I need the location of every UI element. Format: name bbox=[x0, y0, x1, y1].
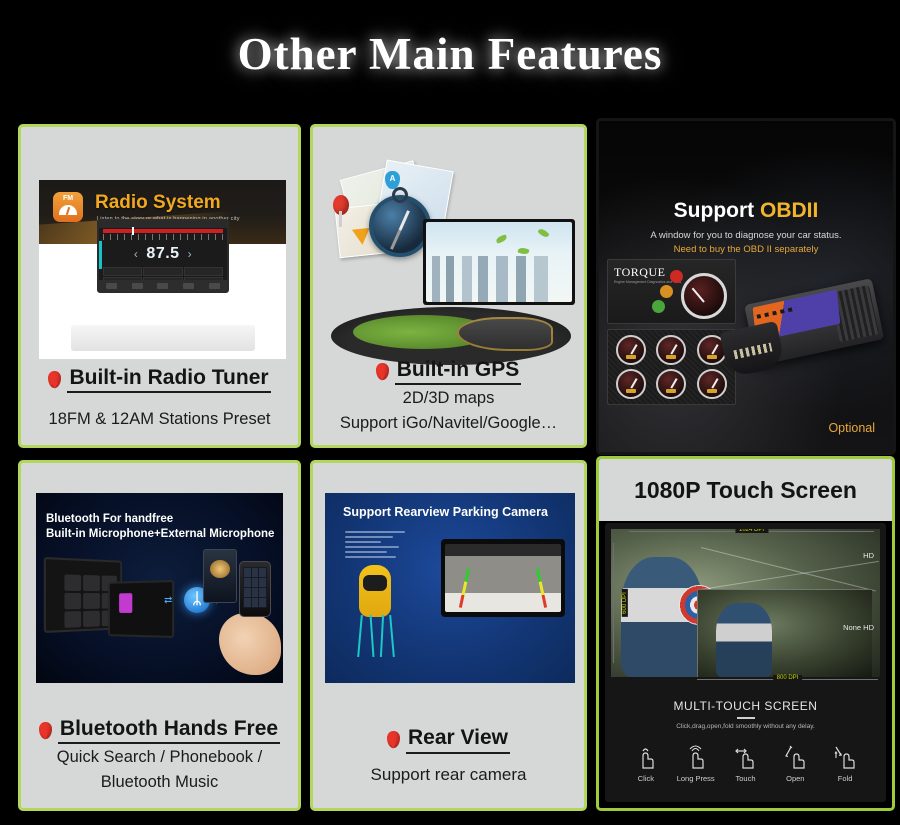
gauge-2 bbox=[656, 335, 686, 365]
dimension-left: 600 DPI bbox=[613, 543, 621, 663]
gps-caption-sub1: 2D/3D maps bbox=[319, 388, 578, 410]
torque-indicator-green bbox=[652, 300, 665, 313]
photo-subject-outer bbox=[621, 557, 703, 677]
gesture-open: Open bbox=[770, 744, 820, 783]
bluetooth-caption-sub1: Quick Search / Phonebook / bbox=[27, 747, 292, 769]
device-stand bbox=[71, 325, 255, 351]
gesture-long-press: Long Press bbox=[671, 744, 721, 783]
leaf-icon-2 bbox=[517, 247, 529, 256]
smartphone-dialpad bbox=[243, 567, 267, 608]
feature-card-radio-tuner[interactable]: FM Radio System Listen to the story or w… bbox=[18, 124, 301, 448]
radio-frequency-value: 87.5 bbox=[146, 245, 179, 262]
rearview-caption: Rear View Support rear camera bbox=[313, 725, 584, 786]
radio-frequency-display: ‹87.5› bbox=[99, 241, 227, 267]
fold-icon bbox=[832, 744, 858, 770]
rearview-caption-title-row: Rear View bbox=[319, 725, 578, 753]
radio-band-bar bbox=[103, 229, 223, 233]
bluetooth-banner-line2: Built-in Microphone+External Microphone bbox=[46, 528, 274, 540]
red-pin-icon bbox=[333, 195, 349, 215]
fm-badge-label: FM bbox=[63, 195, 73, 202]
page-header: Other Main Features bbox=[0, 0, 900, 108]
dimension-bottom: 800 DPI bbox=[697, 679, 878, 687]
dialpad-key bbox=[64, 611, 81, 628]
radio-prev-icon[interactable]: ‹ bbox=[126, 247, 147, 261]
touchscreen-body: HD None HD 1024 DPI 600 DPI 800 DPI MULT… bbox=[605, 523, 886, 802]
optional-label: Optional bbox=[828, 421, 875, 435]
radio-banner-title: Radio System bbox=[95, 192, 221, 214]
head-unit-music-player bbox=[108, 580, 174, 638]
gps-caption-title: Built-in GPS bbox=[395, 357, 522, 385]
title-divider bbox=[737, 717, 755, 719]
rearview-caption-sub: Support rear camera bbox=[319, 764, 578, 786]
compass-icon bbox=[369, 195, 431, 257]
smartphone-device bbox=[239, 561, 271, 617]
dialpad-key bbox=[83, 575, 99, 591]
city-skyline-shape bbox=[432, 256, 562, 302]
gesture-touch-label: Touch bbox=[721, 774, 771, 783]
bluetooth-caption: Bluetooth Hands Free Quick Search / Phon… bbox=[21, 716, 298, 794]
radio-illustration: FM Radio System Listen to the story or w… bbox=[39, 180, 286, 359]
radio-caption-sub: 18FM & 12AM Stations Preset bbox=[27, 409, 292, 431]
hd-comparison-photo: HD None HD 1024 DPI 600 DPI bbox=[611, 529, 880, 677]
open-icon bbox=[782, 744, 808, 770]
none-hd-label: None HD bbox=[843, 623, 874, 632]
gps-caption-sub2: Support iGo/Navitel/Google… bbox=[319, 413, 578, 435]
map-pin-icon bbox=[39, 722, 52, 739]
touch-icon bbox=[732, 744, 758, 770]
dialpad-key bbox=[83, 593, 99, 609]
feature-card-gps[interactable]: A Built bbox=[310, 124, 587, 448]
touchscreen-header: 1080P Touch Screen bbox=[599, 459, 892, 521]
gps-caption: Built-in GPS 2D/3D maps Support iGo/Navi… bbox=[313, 357, 584, 435]
feature-card-touch-screen[interactable]: 1080P Touch Screen HD None HD 1024 DPI bbox=[596, 456, 895, 811]
leaf-icon-3 bbox=[537, 227, 549, 239]
gesture-click-label: Click bbox=[621, 774, 671, 783]
obd-subtitle-2: Need to buy the OBD II separately bbox=[599, 244, 893, 255]
gesture-click: Click bbox=[621, 744, 671, 783]
radio-frequency-scale bbox=[103, 234, 223, 240]
gps-screen-content bbox=[426, 222, 572, 302]
head-unit-toolbar bbox=[99, 280, 227, 291]
scan-icon[interactable] bbox=[132, 283, 143, 289]
page-title: Other Main Features bbox=[238, 28, 663, 80]
car-top-view-icon bbox=[359, 565, 391, 617]
torque-app-name: TORQUE bbox=[614, 265, 665, 280]
feature-card-bluetooth[interactable]: Bluetooth For handfree Built-in Micropho… bbox=[18, 460, 301, 811]
parking-guideline-shape bbox=[359, 615, 393, 657]
gesture-fold-label: Fold bbox=[820, 774, 870, 783]
obd-title-prefix: Support bbox=[674, 199, 760, 222]
obd-subtitle-1: A window for you to diagnose your car st… bbox=[599, 230, 893, 241]
dimension-left-label: 600 DPI bbox=[622, 589, 628, 617]
bluetooth-caption-title-row: Bluetooth Hands Free bbox=[27, 716, 292, 744]
settings-icon[interactable] bbox=[209, 283, 220, 289]
obd-header: Support OBDII A window for you to diagno… bbox=[599, 199, 893, 255]
dialpad-key bbox=[83, 611, 99, 627]
photo-subject-inner bbox=[716, 603, 772, 677]
radio-preset-2[interactable] bbox=[143, 267, 182, 276]
rearview-caption-title: Rear View bbox=[406, 725, 510, 753]
long-press-icon bbox=[683, 744, 709, 770]
none-hd-inset bbox=[697, 589, 872, 677]
secondary-phone-device bbox=[203, 549, 237, 603]
gesture-long-press-label: Long Press bbox=[671, 774, 721, 783]
guideline-right bbox=[536, 568, 547, 608]
feature-card-rear-view[interactable]: Support Rearview Parking Camera bbox=[310, 460, 587, 811]
gesture-fold: Fold bbox=[820, 744, 870, 783]
fm-icon: FM bbox=[53, 192, 83, 222]
dialpad-key bbox=[64, 574, 81, 591]
gps-caption-title-row: Built-in GPS bbox=[319, 357, 578, 385]
multi-touch-subtitle: Click,drag,open,fold smoothly without an… bbox=[605, 723, 886, 730]
dongle-obd-plug bbox=[719, 321, 785, 378]
head-unit-accent-strip bbox=[99, 241, 102, 269]
gauge-5 bbox=[656, 369, 686, 399]
home-icon[interactable] bbox=[106, 283, 117, 289]
feature-grid: FM Radio System Listen to the story or w… bbox=[0, 118, 900, 825]
torque-indicator-red bbox=[670, 270, 683, 283]
torque-indicator-orange bbox=[660, 285, 673, 298]
head-unit-device: ‹87.5› bbox=[97, 219, 229, 293]
radio-caption-title-row: Built-in Radio Tuner bbox=[27, 365, 292, 393]
torque-gauge-grid bbox=[607, 329, 736, 405]
leaf-icon-1 bbox=[495, 234, 507, 243]
gauge-1 bbox=[616, 335, 646, 365]
radio-next-icon[interactable]: › bbox=[180, 247, 201, 261]
rearview-monitor-device bbox=[441, 539, 565, 617]
hand-illustration bbox=[219, 613, 281, 675]
rearview-camera-feed bbox=[445, 544, 561, 612]
next-track-icon[interactable] bbox=[183, 283, 194, 289]
bluetooth-caption-title: Bluetooth Hands Free bbox=[58, 716, 280, 744]
map-pin-icon bbox=[376, 363, 389, 380]
click-icon bbox=[633, 744, 659, 770]
feature-page: Other Main Features FM Radio System List… bbox=[0, 0, 900, 825]
hd-label: HD bbox=[863, 551, 874, 560]
dimension-bottom-label: 800 DPI bbox=[773, 675, 803, 681]
gps-screen-device bbox=[423, 219, 575, 305]
gesture-touch: Touch bbox=[721, 744, 771, 783]
bluetooth-illustration: Bluetooth For handfree Built-in Micropho… bbox=[36, 493, 283, 683]
obd-title-highlight: OBDII bbox=[760, 199, 818, 222]
gauge-4 bbox=[616, 369, 646, 399]
gesture-open-label: Open bbox=[770, 774, 820, 783]
bluetooth-banner-line1: Bluetooth For handfree bbox=[46, 513, 173, 525]
rearview-body-text-block bbox=[345, 531, 405, 561]
album-art-thumb bbox=[119, 593, 132, 613]
compass-ring-shape bbox=[392, 187, 408, 203]
radio-preset-1[interactable] bbox=[103, 267, 142, 276]
rearview-banner-title: Support Rearview Parking Camera bbox=[343, 505, 548, 519]
dialpad-key bbox=[64, 593, 81, 609]
rearview-illustration: Support Rearview Parking Camera bbox=[325, 493, 575, 683]
prev-track-icon[interactable] bbox=[157, 283, 168, 289]
map-pin-icon bbox=[387, 731, 400, 748]
gesture-row: Click Long Press bbox=[605, 730, 886, 783]
radio-caption: Built-in Radio Tuner 18FM & 12AM Station… bbox=[21, 365, 298, 431]
obd-title: Support OBDII bbox=[599, 199, 893, 223]
radio-preset-3[interactable] bbox=[184, 267, 223, 276]
dimension-top: 1024 DPI bbox=[629, 531, 874, 539]
touchscreen-header-title: 1080P Touch Screen bbox=[634, 477, 857, 504]
sync-arrow-left-icon: ⇄ bbox=[164, 595, 171, 606]
gauge-6 bbox=[697, 369, 727, 399]
map-pin-icon bbox=[48, 371, 61, 388]
guideline-left bbox=[459, 568, 470, 608]
gps-illustration: A bbox=[327, 163, 577, 371]
fm-dial-shape bbox=[59, 205, 77, 215]
bluetooth-caption-sub2: Bluetooth Music bbox=[27, 772, 292, 794]
multi-touch-title: MULTI-TOUCH SCREEN bbox=[605, 699, 886, 713]
head-unit-statusbar bbox=[99, 221, 227, 228]
radio-caption-title: Built-in Radio Tuner bbox=[67, 365, 270, 393]
feature-card-obdii[interactable]: Support OBDII A window for you to diagno… bbox=[596, 118, 896, 455]
dimension-top-label: 1024 DPI bbox=[735, 529, 768, 533]
